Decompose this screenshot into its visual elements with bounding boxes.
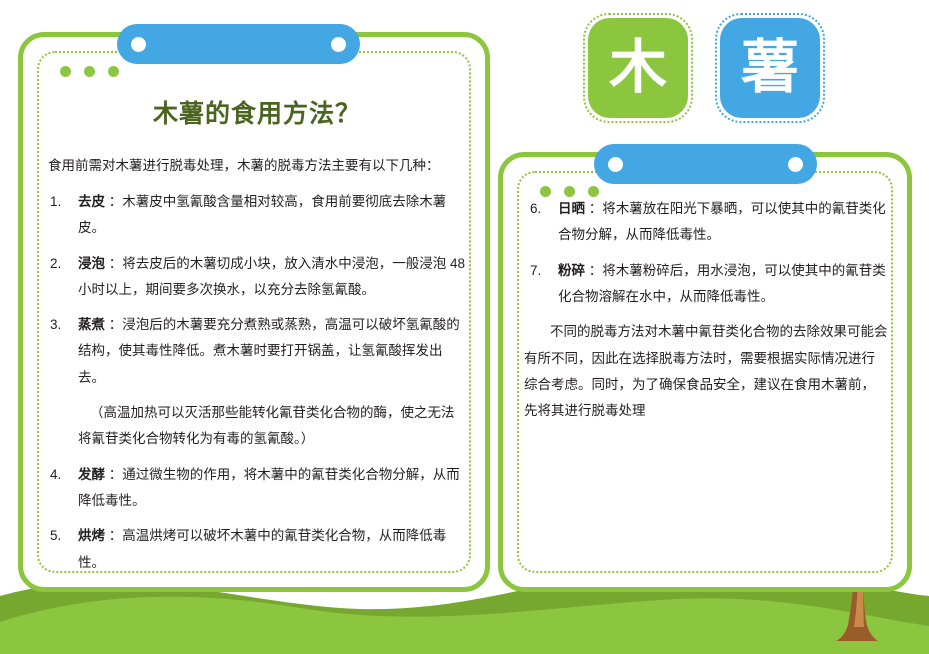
step-term: 日晒 <box>558 201 585 216</box>
step-term: 粉碎 <box>558 263 585 278</box>
pill-hole-right <box>331 37 346 52</box>
left-card-tab <box>117 24 360 64</box>
intro-text: 食用前需对木薯进行脱毒处理，木薯的脱毒方法主要有以下几种： <box>48 156 466 177</box>
badge-shu: 薯 <box>720 18 820 118</box>
list-item: 2. 浸泡 ：将去皮后的木薯切成小块，放入清水中浸泡，一般浸泡 48 小时以上，… <box>48 251 466 304</box>
step-number: 1. <box>50 189 61 215</box>
page-title: 木薯的食用方法？ <box>48 94 466 130</box>
right-card-content: 6. 日晒 ：将木薯放在阳光下暴晒，可以使其中的氰苷类化合物分解，从而降低毒性。… <box>524 196 888 425</box>
list-item: 3. 蒸煮 ：浸泡后的木薯要充分煮熟或蒸熟，高温可以破坏氢氰酸的结构，使其毒性降… <box>48 312 466 391</box>
steps-list-left-cont: 4. 发酵 ：通过微生物的作用，将木薯中的氰苷类化合物分解，从而降低毒性。 5.… <box>48 462 466 576</box>
left-card-content: 木薯的食用方法？ 食用前需对木薯进行脱毒处理，木薯的脱毒方法主要有以下几种： 1… <box>48 94 466 585</box>
step-term: 去皮 <box>78 194 105 209</box>
steps-list-left: 1. 去皮 ：木薯皮中氢氰酸含量相对较高，食用前要彻底去除木薯皮。 2. 浸泡 … <box>48 189 466 391</box>
badge-mu-char: 木 <box>609 39 667 97</box>
step-body: ：高温烘烤可以破坏木薯中的氰苷类化合物，从而降低毒性。 <box>78 528 446 569</box>
step-body: ：将去皮后的木薯切成小块，放入清水中浸泡，一般浸泡 48 小时以上，期间要多次换… <box>78 256 465 297</box>
list-item: 6. 日晒 ：将木薯放在阳光下暴晒，可以使其中的氰苷类化合物分解，从而降低毒性。 <box>524 196 888 249</box>
step-body: ：浸泡后的木薯要充分煮熟或蒸熟，高温可以破坏氢氰酸的结构，使其毒性降低。煮木薯时… <box>78 317 460 385</box>
pill-hole-left <box>131 37 146 52</box>
step-number: 5. <box>50 523 61 549</box>
right-card-dots <box>536 186 603 197</box>
step-term: 发酵 <box>78 467 105 482</box>
step-body: ：木薯皮中氢氰酸含量相对较高，食用前要彻底去除木薯皮。 <box>78 194 446 235</box>
dot-1 <box>60 66 71 77</box>
pill-hole-left <box>608 157 623 172</box>
step-number: 6. <box>530 196 541 222</box>
list-item: 7. 粉碎 ：将木薯粉碎后，用水浸泡，可以使其中的氰苷类化合物溶解在水中，从而降… <box>524 258 888 311</box>
dot-2 <box>564 186 575 197</box>
right-card-tab <box>594 144 817 184</box>
steps-list-right: 6. 日晒 ：将木薯放在阳光下暴晒，可以使其中的氰苷类化合物分解，从而降低毒性。… <box>524 196 888 310</box>
dot-1 <box>540 186 551 197</box>
dot-3 <box>588 186 599 197</box>
closing-paragraph: 不同的脱毒方法对木薯中氰苷类化合物的去除效果可能会有所不同，因此在选择脱毒方法时… <box>524 319 888 424</box>
list-item: 1. 去皮 ：木薯皮中氢氰酸含量相对较高，食用前要彻底去除木薯皮。 <box>48 189 466 242</box>
step-number: 7. <box>530 258 541 284</box>
step-body: ：将木薯放在阳光下暴晒，可以使其中的氰苷类化合物分解，从而降低毒性。 <box>558 201 886 242</box>
step-number: 4. <box>50 462 61 488</box>
left-card-dots <box>56 66 123 77</box>
dot-2 <box>84 66 95 77</box>
dot-3 <box>108 66 119 77</box>
step-term: 蒸煮 <box>78 317 105 332</box>
step-body: ：将木薯粉碎后，用水浸泡，可以使其中的氰苷类化合物溶解在水中，从而降低毒性。 <box>558 263 886 304</box>
step-number: 3. <box>50 312 61 338</box>
step-term: 烘烤 <box>78 528 105 543</box>
hill-base <box>0 640 929 654</box>
step-body: ：通过微生物的作用，将木薯中的氰苷类化合物分解，从而降低毒性。 <box>78 467 460 508</box>
step-note: （高温加热可以灭活那些能转化氰苷类化合物的酶，使之无法将氰苷类化合物转化为有毒的… <box>48 400 466 453</box>
step-number: 2. <box>50 251 61 277</box>
list-item: 4. 发酵 ：通过微生物的作用，将木薯中的氰苷类化合物分解，从而降低毒性。 <box>48 462 466 515</box>
logo-badges: 木 薯 <box>588 18 820 118</box>
badge-mu: 木 <box>588 18 688 118</box>
badge-shu-char: 薯 <box>741 39 799 97</box>
pill-hole-right <box>788 157 803 172</box>
list-item: 5. 烘烤 ：高温烘烤可以破坏木薯中的氰苷类化合物，从而降低毒性。 <box>48 523 466 576</box>
step-term: 浸泡 <box>78 256 105 271</box>
